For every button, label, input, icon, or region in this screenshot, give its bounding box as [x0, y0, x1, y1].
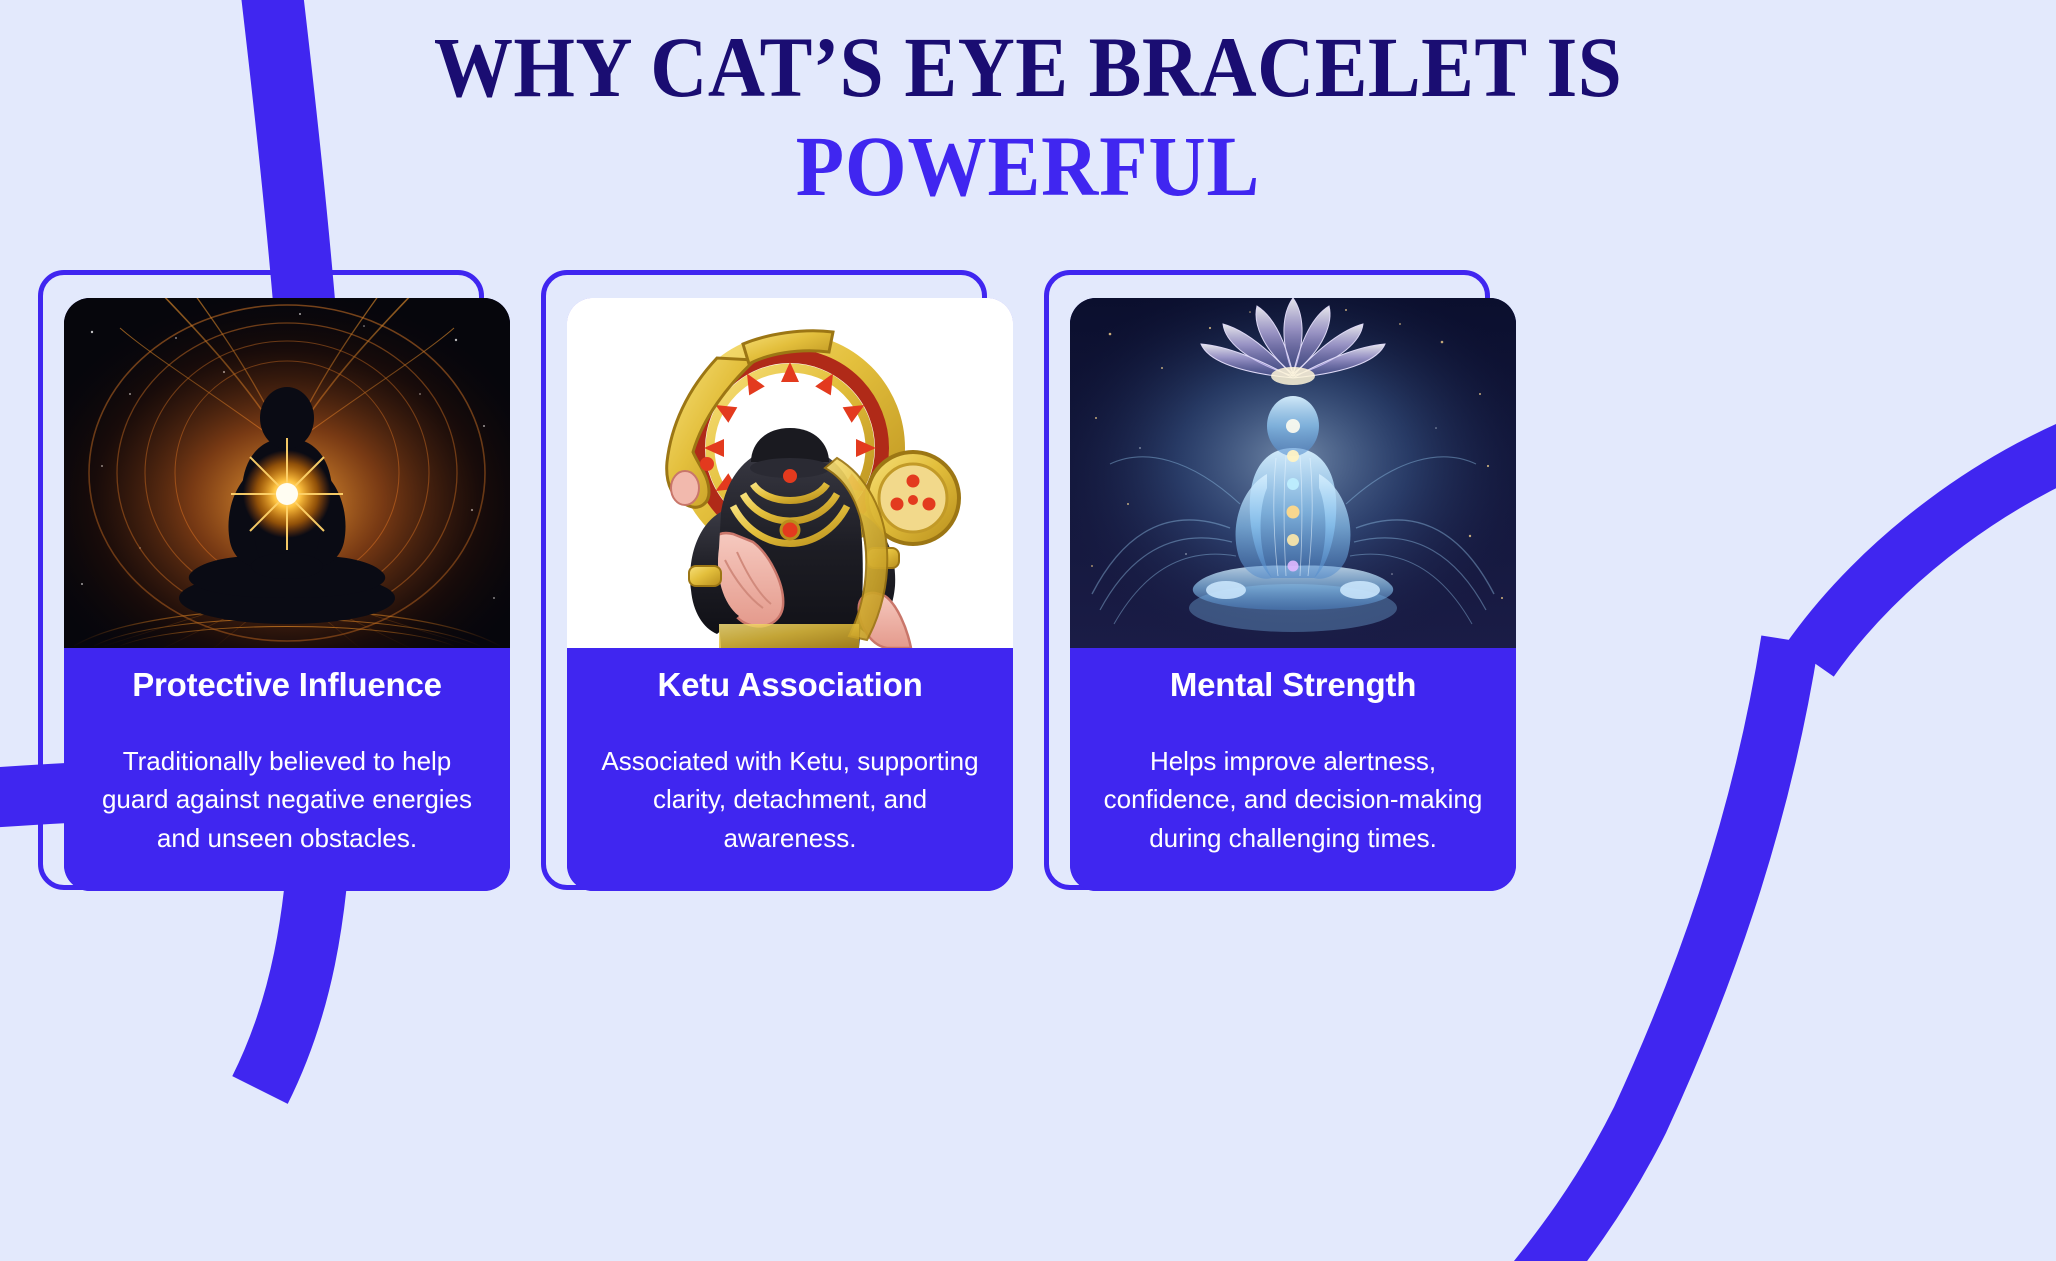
card-text-block: Ketu Association Associated with Ketu, s…: [567, 648, 1013, 891]
card-image-protective-influence: [64, 298, 510, 648]
card-description: Associated with Ketu, supporting clarity…: [593, 742, 987, 857]
card-description: Helps improve alertness, confidence, and…: [1096, 742, 1490, 857]
card-image-mental-strength: [1070, 298, 1516, 648]
card-text-block: Mental Strength Helps improve alertness,…: [1070, 648, 1516, 891]
title-line-1: WHY CAT’S EYE BRACELET IS: [82, 22, 1974, 112]
title-line-2: POWERFUL: [82, 118, 1974, 214]
card-image-ketu-association: [567, 298, 1013, 648]
card-row: Protective Influence Traditionally belie…: [0, 270, 2056, 970]
card-description: Traditionally believed to help guard aga…: [90, 742, 484, 857]
card-text-block: Protective Influence Traditionally belie…: [64, 648, 510, 891]
infographic-canvas: WHY CAT’S EYE BRACELET IS POWERFUL: [0, 0, 2056, 1261]
card-panel[interactable]: Ketu Association Associated with Ketu, s…: [567, 298, 1013, 891]
card-title: Mental Strength: [1096, 666, 1490, 704]
page-title: WHY CAT’S EYE BRACELET IS POWERFUL: [0, 22, 2056, 215]
card-title: Ketu Association: [593, 666, 987, 704]
card-panel[interactable]: Mental Strength Helps improve alertness,…: [1070, 298, 1516, 891]
card-panel[interactable]: Protective Influence Traditionally belie…: [64, 298, 510, 891]
card-title: Protective Influence: [90, 666, 484, 704]
